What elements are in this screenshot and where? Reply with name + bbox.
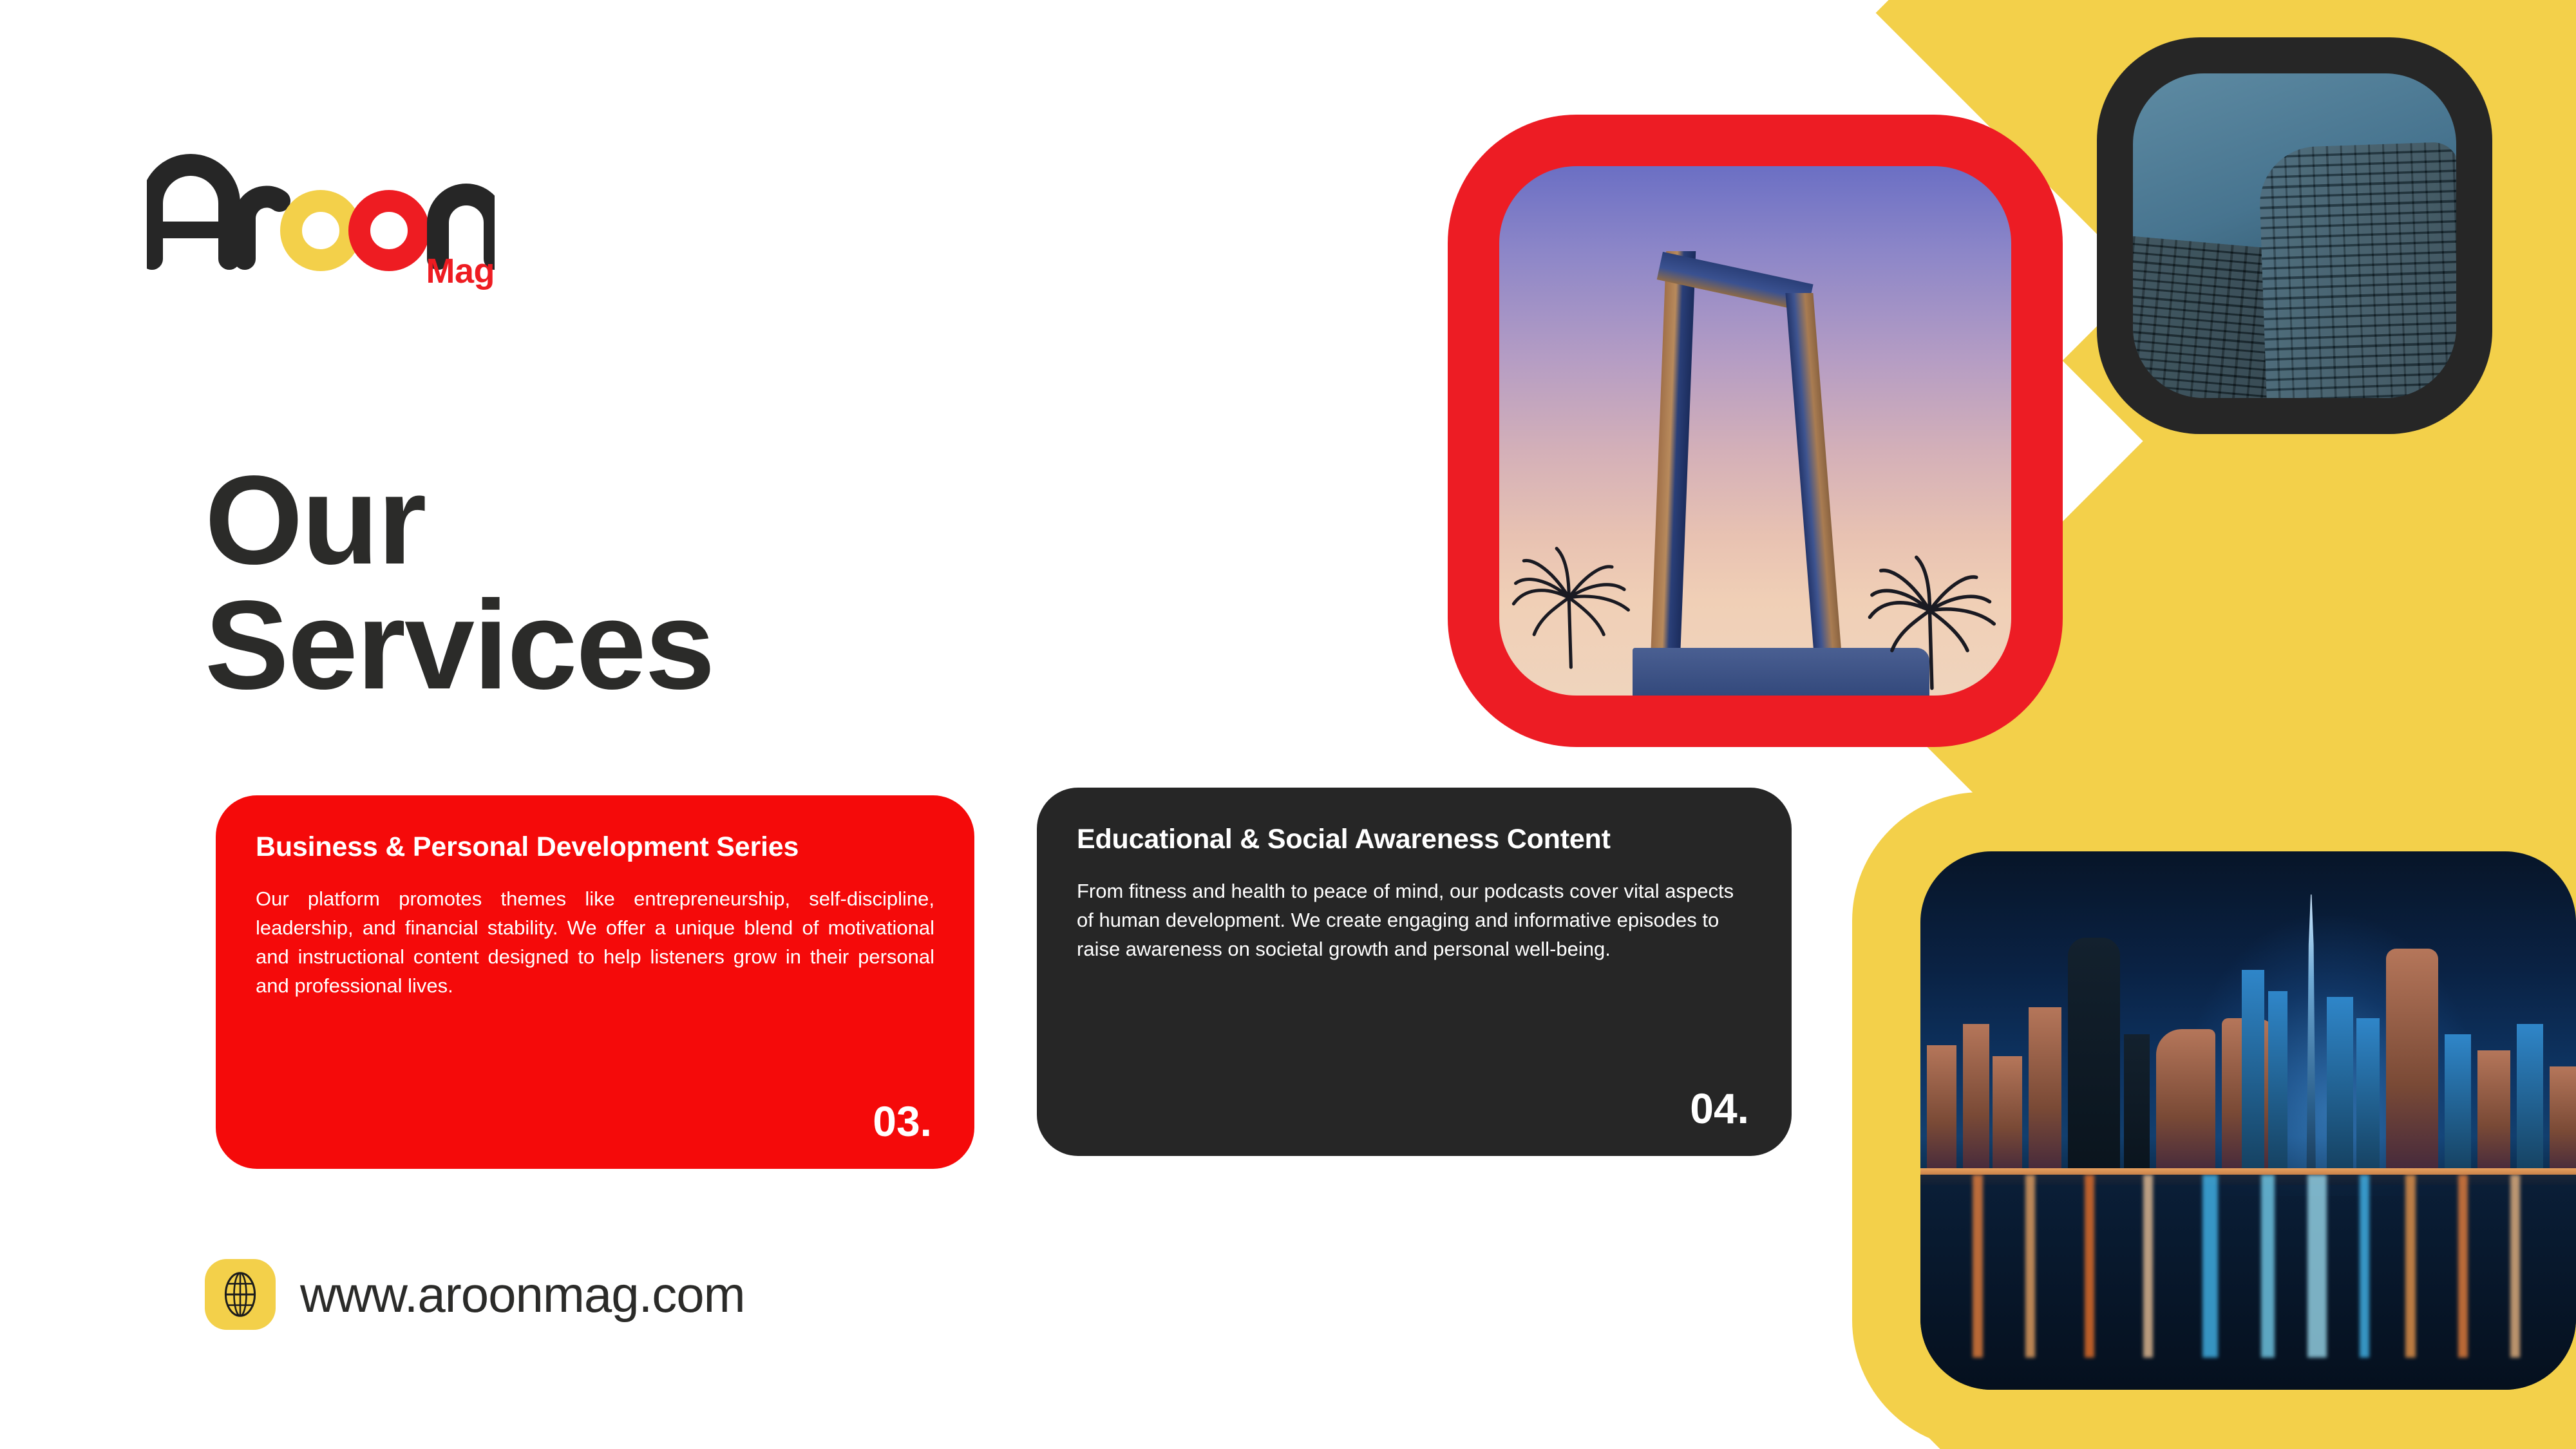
dubai-frame-monument-photo (1499, 166, 2011, 696)
glass-office-towers-frame (2097, 37, 2492, 434)
service-card-number: 03. (873, 1097, 932, 1146)
page-title-line-2: Services (205, 583, 1042, 708)
service-card-number: 04. (1690, 1084, 1749, 1133)
service-card-educational-awareness[interactable]: Educational & Social Awareness Content F… (1037, 788, 1792, 1156)
website-footer[interactable]: www.aroonmag.com (205, 1259, 745, 1330)
page-title: Our Services (205, 458, 1042, 708)
dubai-frame-monument-frame (1448, 115, 2063, 747)
brand-logo[interactable]: Mag (147, 149, 495, 285)
dubai-night-skyline-photo (1920, 851, 2576, 1390)
service-card-title: Educational & Social Awareness Content (1077, 824, 1752, 855)
service-card-business-development[interactable]: Business & Personal Development Series O… (216, 795, 974, 1169)
palm-tree (1510, 516, 1633, 696)
logo-subtitle: Mag (426, 251, 495, 291)
service-card-title: Business & Personal Development Series (256, 831, 934, 863)
service-card-body: From fitness and health to peace of mind… (1077, 877, 1752, 964)
page-title-line-1: Our (205, 458, 1042, 583)
glass-office-towers-photo (2133, 73, 2456, 398)
globe-icon-badge (205, 1259, 276, 1330)
palm-tree (1868, 542, 2001, 696)
slide-canvas: Mag Our Services Business & Personal Dev… (0, 0, 2576, 1449)
water-reflection (1920, 1175, 2576, 1390)
website-url[interactable]: www.aroonmag.com (300, 1265, 745, 1324)
globe-icon (216, 1270, 265, 1319)
dubai-night-skyline-frame (1852, 792, 2576, 1449)
service-card-body: Our platform promotes themes like entrep… (256, 885, 934, 1001)
